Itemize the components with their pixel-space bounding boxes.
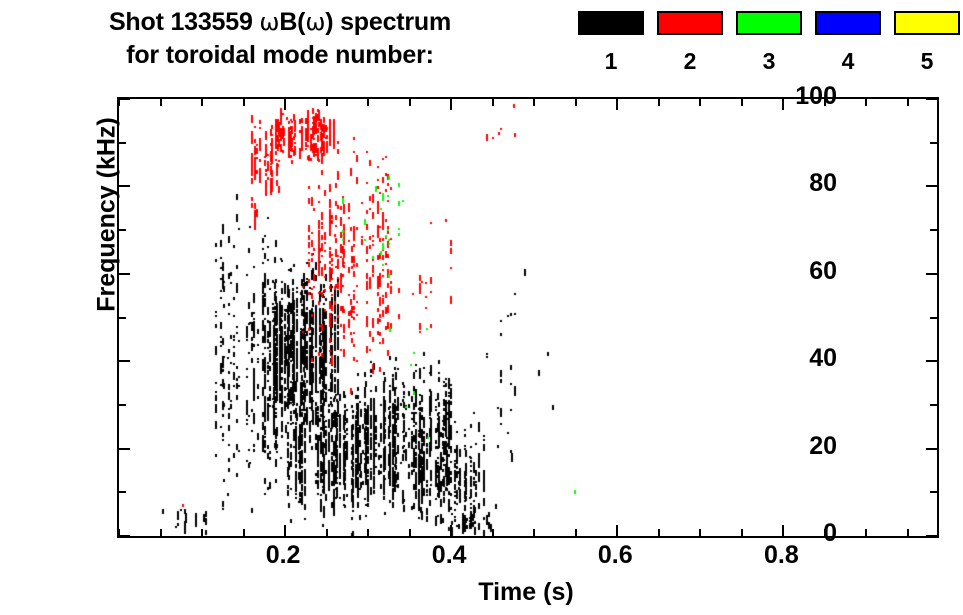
legend-swatch-mode-1	[578, 11, 644, 35]
legend-swatch-mode-2	[657, 11, 723, 35]
tick-mark	[409, 529, 411, 536]
tick-mark	[926, 98, 937, 100]
chart-title: Shot 133559 ωB(ω) spectrum for toroidal …	[0, 6, 560, 72]
tick-mark	[616, 99, 618, 110]
tick-mark	[409, 99, 411, 106]
legend: 1 2 3 4 5	[578, 11, 960, 73]
plot-frame	[117, 97, 939, 538]
y-tick-label: 40	[809, 346, 837, 371]
tick-mark	[865, 529, 867, 536]
legend-swatch-mode-3	[736, 11, 802, 35]
tick-mark	[492, 99, 494, 106]
legend-label-mode-1: 1	[605, 50, 618, 73]
tick-mark	[699, 99, 701, 106]
legend-entry-4[interactable]: 4	[815, 11, 881, 73]
tick-mark	[865, 99, 867, 106]
tick-mark	[926, 448, 937, 450]
y-tick-label: 60	[809, 259, 837, 284]
legend-label-mode-4: 4	[842, 50, 855, 73]
tick-mark	[907, 529, 909, 536]
tick-mark	[930, 317, 937, 319]
tick-mark	[926, 535, 937, 537]
tick-mark	[616, 525, 618, 536]
tick-mark	[119, 448, 130, 450]
tick-mark	[119, 535, 130, 537]
tick-mark	[930, 491, 937, 493]
x-tick-label: 0.2	[266, 543, 301, 568]
tick-mark	[575, 529, 577, 536]
omega-symbol-2: ω	[305, 8, 325, 36]
legend-swatch-mode-5	[894, 11, 960, 35]
tick-mark	[575, 99, 577, 106]
tick-mark	[741, 99, 743, 106]
x-tick-label: 0.6	[598, 543, 633, 568]
tick-mark	[118, 529, 120, 536]
tick-mark	[119, 360, 130, 362]
tick-mark	[533, 529, 535, 536]
tick-mark	[741, 529, 743, 536]
title-mid: B(	[279, 8, 305, 36]
tick-mark	[699, 529, 701, 536]
tick-mark	[367, 99, 369, 106]
tick-mark	[284, 99, 286, 110]
legend-entry-2[interactable]: 2	[657, 11, 723, 73]
tick-mark	[326, 99, 328, 106]
tick-mark	[782, 525, 784, 536]
tick-mark	[658, 529, 660, 536]
tick-mark	[926, 360, 937, 362]
tick-mark	[284, 525, 286, 536]
x-tick-label: 0.8	[764, 543, 799, 568]
legend-entry-1[interactable]: 1	[578, 11, 644, 73]
chart-title-line-1: Shot 133559 ωB(ω) spectrum	[0, 6, 560, 39]
tick-mark	[907, 99, 909, 106]
tick-mark	[450, 99, 452, 110]
tick-mark	[243, 99, 245, 106]
y-tick-label: 80	[809, 171, 837, 196]
tick-mark	[119, 404, 126, 406]
omega-symbol-1: ω	[259, 8, 279, 36]
spectrogram-canvas	[119, 99, 937, 536]
legend-entry-3[interactable]: 3	[736, 11, 802, 73]
legend-entry-5[interactable]: 5	[894, 11, 960, 73]
title-prefix: Shot 133559	[109, 8, 259, 36]
tick-mark	[930, 229, 937, 231]
x-tick-label: 0.4	[432, 543, 467, 568]
tick-mark	[201, 529, 203, 536]
tick-mark	[930, 142, 937, 144]
tick-mark	[367, 529, 369, 536]
tick-mark	[160, 529, 162, 536]
tick-mark	[160, 99, 162, 106]
legend-label-mode-3: 3	[763, 50, 776, 73]
legend-label-mode-5: 5	[921, 50, 934, 73]
y-axis-title: Frequency (kHz)	[93, 100, 122, 330]
y-tick-label: 100	[795, 84, 837, 109]
legend-swatch-mode-4	[815, 11, 881, 35]
tick-mark	[119, 491, 126, 493]
tick-mark	[926, 273, 937, 275]
y-tick-label: 0	[823, 521, 837, 546]
tick-mark	[782, 99, 784, 110]
chart-title-line-2: for toroidal mode number:	[0, 39, 560, 72]
tick-mark	[201, 99, 203, 106]
title-suffix: ) spectrum	[325, 8, 451, 36]
tick-mark	[326, 529, 328, 536]
legend-label-mode-2: 2	[684, 50, 697, 73]
tick-mark	[450, 525, 452, 536]
tick-mark	[930, 404, 937, 406]
y-tick-label: 20	[809, 434, 837, 459]
tick-mark	[533, 99, 535, 106]
tick-mark	[658, 99, 660, 106]
tick-mark	[492, 529, 494, 536]
tick-mark	[926, 185, 937, 187]
x-axis-title: Time (s)	[117, 578, 935, 607]
tick-mark	[243, 529, 245, 536]
